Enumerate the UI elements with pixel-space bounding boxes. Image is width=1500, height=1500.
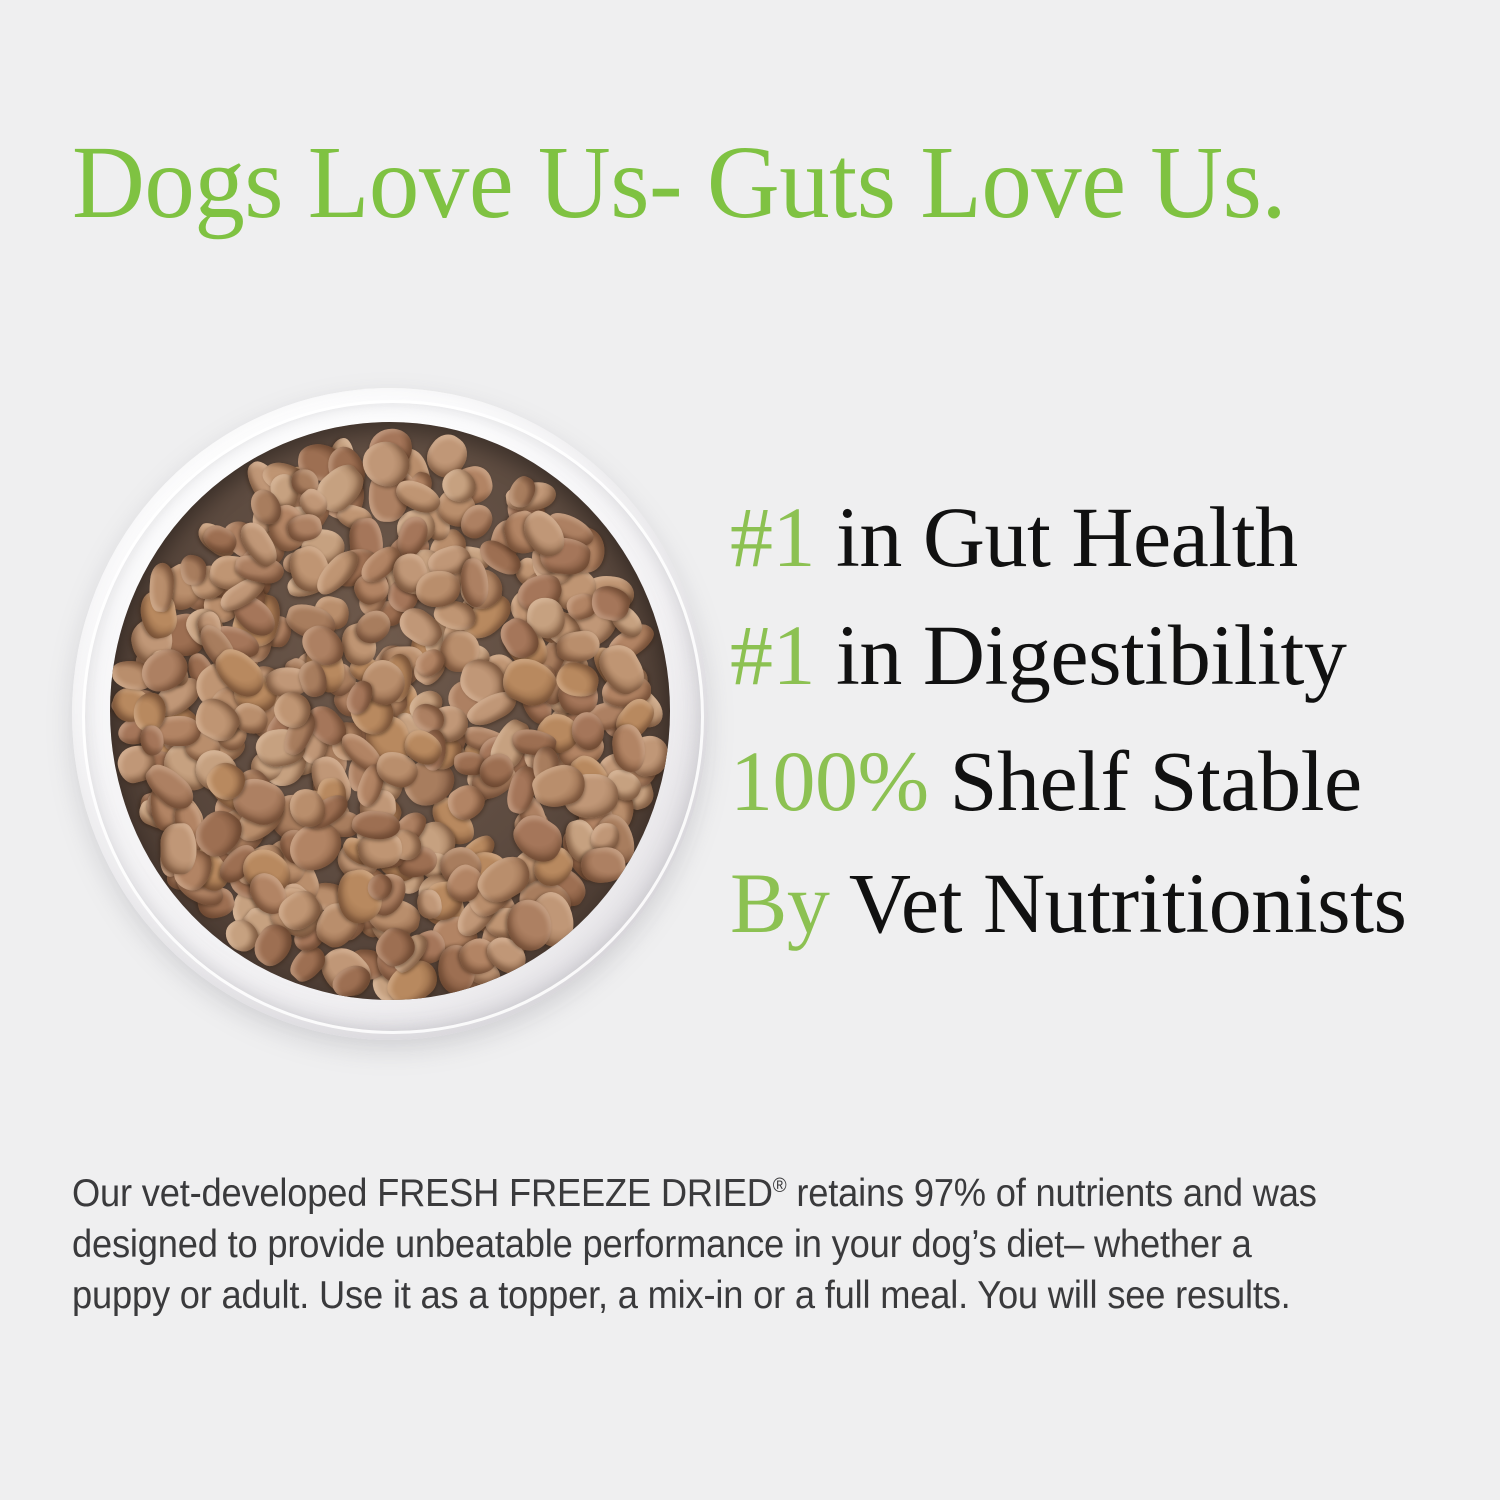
claim-highlight: By <box>730 855 829 951</box>
bowl-interior <box>110 422 670 1000</box>
kibble-piece <box>179 553 207 585</box>
claim-item-shelf-stable: 100% Shelf Stable <box>730 726 1470 836</box>
claim-item-gut-health: #1 in Gut Health <box>730 482 1470 592</box>
claim-highlight: 100% <box>730 733 929 829</box>
kibble-piece <box>160 823 197 875</box>
registered-trademark-symbol: ® <box>773 1175 787 1197</box>
kibble-pile <box>110 422 670 1000</box>
body-paragraph: Our vet-developed FRESH FREEZE DRIED® re… <box>72 1168 1344 1321</box>
claim-text: Shelf Stable <box>929 733 1362 829</box>
claims-list: #1 in Gut Health #1 in Digestibility 100… <box>730 482 1470 972</box>
claim-highlight: #1 <box>730 489 815 585</box>
kibble-piece <box>416 570 460 606</box>
claim-text: in Gut Health <box>815 489 1298 585</box>
claim-item-vet-nutritionists: By Vet Nutritionists <box>730 848 1470 958</box>
product-image <box>72 388 708 1044</box>
marketing-banner: Dogs Love Us- Guts Love Us. #1 in Gut He… <box>0 0 1500 1500</box>
claim-text: Vet Nutritionists <box>829 855 1406 951</box>
claim-text: in Digestibility <box>815 607 1346 703</box>
claim-item-digestibility: #1 in Digestibility <box>730 600 1470 710</box>
page-headline: Dogs Love Us- Guts Love Us. <box>72 128 1420 238</box>
body-copy-part1: Our vet-developed FRESH FREEZE DRIED <box>72 1172 773 1215</box>
claim-highlight: #1 <box>730 607 815 703</box>
